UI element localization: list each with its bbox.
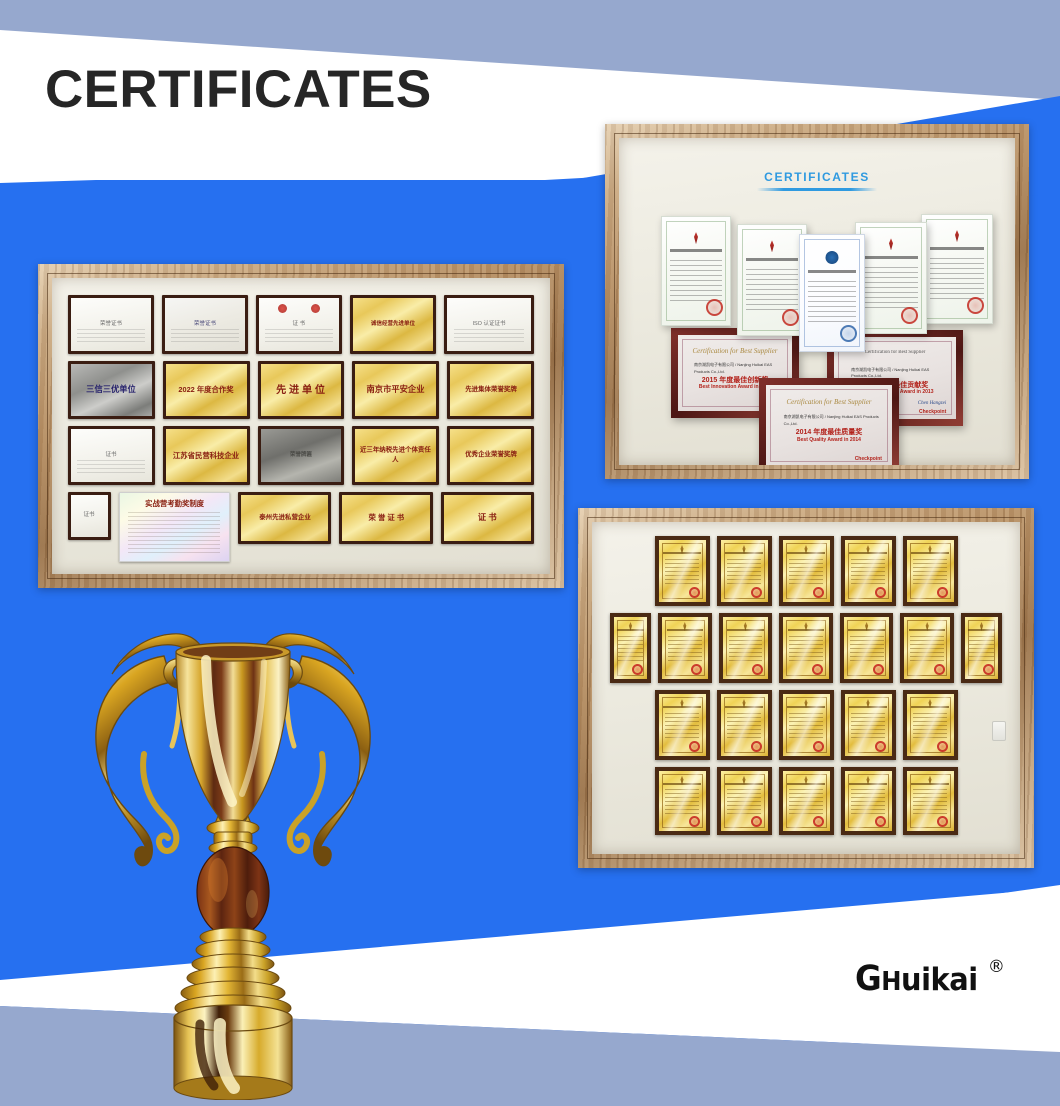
seal-icon <box>813 816 824 827</box>
seal-icon <box>689 741 700 752</box>
brand-logo-smallcap: H <box>881 967 901 997</box>
certificates-heading: CERTIFICATES <box>619 170 1015 191</box>
iso-certificate[interactable] <box>799 234 865 352</box>
plaque[interactable]: 荣誉牌匾 <box>258 426 345 485</box>
plaque[interactable]: 证书 <box>68 492 111 540</box>
cert-title-bar <box>849 706 887 708</box>
doc-heading-bar <box>864 256 917 259</box>
cert-title-bar <box>725 552 763 554</box>
seal-icon <box>813 741 824 752</box>
plaque-label: 三信三优单位 <box>87 384 137 396</box>
trophy-bowl <box>176 643 290 823</box>
cert-textlines <box>665 559 700 588</box>
seal-icon <box>752 664 763 675</box>
cert-title-bar <box>911 552 949 554</box>
plaque[interactable]: 证 书 <box>441 492 534 544</box>
gold-certificate-row <box>610 767 1002 835</box>
plaque[interactable]: 三信三优单位 <box>68 361 155 420</box>
plaque-label: 先 进 单 位 <box>277 382 326 397</box>
cert-title-bar <box>727 629 764 631</box>
plaque-label: ISO 认证证书 <box>472 320 505 328</box>
seal-icon <box>278 304 287 313</box>
plaque[interactable]: 南京市平安企业 <box>352 361 439 420</box>
award-script-title: Certification for Best Supplier <box>689 347 780 355</box>
cert-title-bar <box>787 783 825 785</box>
page-title: CERTIFICATES <box>45 62 432 118</box>
cert-textlines <box>851 559 886 588</box>
plaque-label: 实战营考勤奖制度 <box>124 499 224 510</box>
gold-patent-certificate[interactable] <box>779 536 834 606</box>
doc-textlines <box>808 281 857 325</box>
plaque[interactable]: 荣誉证书 <box>162 295 248 354</box>
cert-title-bar <box>909 629 946 631</box>
cert-title-bar <box>849 783 887 785</box>
frame-mat: 荣誉证书 荣誉证书 证 书 诚信经营先进单位 <box>52 278 550 574</box>
doc-heading-bar <box>930 247 983 250</box>
cert-textlines <box>618 636 642 665</box>
trophy-knop <box>197 847 269 937</box>
cert-title-bar <box>911 783 949 785</box>
plaque-label: 近三年纳税先进个体责任人 <box>359 446 433 465</box>
gold-patent-certificate[interactable] <box>655 690 710 760</box>
certificates-banner: CERTIFICATES 荣誉证书 荣誉证书 证 书 <box>0 0 1060 1106</box>
seal-icon <box>689 816 700 827</box>
photo-frame-awards-wall[interactable]: 荣誉证书 荣誉证书 证 书 诚信经营先进单位 <box>38 264 564 588</box>
plaque-grid: 荣誉证书 荣誉证书 证 书 诚信经营先进单位 <box>52 278 550 574</box>
award-title-en: Best Quality Award in 2014 <box>766 437 892 443</box>
cert-title-bar <box>725 783 763 785</box>
seal-icon <box>311 304 320 313</box>
seal-icon <box>937 587 948 598</box>
trophy-svg <box>68 604 398 1100</box>
plaque-label: 证书 <box>106 452 117 460</box>
cert-title-bar <box>663 783 701 785</box>
plaque-textlines <box>77 460 145 476</box>
gold-patent-certificate[interactable] <box>717 767 772 835</box>
cert-title-bar <box>667 629 704 631</box>
frame-mat <box>592 522 1020 854</box>
cert-title-bar <box>788 629 825 631</box>
cert-textlines <box>851 789 886 817</box>
award-company: 南京湖凯电子有限公司 / Nanjing Huikai EAS Products… <box>694 362 781 375</box>
gold-patent-certificate[interactable] <box>840 613 894 683</box>
gold-patent-certificate[interactable] <box>779 690 834 760</box>
plaque[interactable]: 2022 年度合作奖 <box>163 361 250 420</box>
plaque-label: 荣誉证书 <box>194 320 216 328</box>
plaque[interactable]: 先进集体荣誉奖牌 <box>447 361 534 420</box>
plaque[interactable]: 江苏省民营科技企业 <box>163 426 250 485</box>
gold-patent-certificate[interactable] <box>903 690 958 760</box>
cert-textlines <box>727 713 762 742</box>
gold-patent-certificate[interactable] <box>903 767 958 835</box>
plaque[interactable]: 荣誉证书 <box>68 295 154 354</box>
cert-textlines <box>668 636 702 665</box>
seal-icon <box>875 816 886 827</box>
seal-icon <box>983 664 994 675</box>
plaque-textlines <box>171 329 238 345</box>
cert-title-bar <box>787 706 825 708</box>
cert-textlines <box>727 559 762 588</box>
trophy-base <box>174 1005 292 1100</box>
award-script-title: Certification for Best Supplier <box>779 398 880 406</box>
gold-patent-certificate[interactable] <box>900 613 954 683</box>
plaque[interactable]: 泰州先进私营企业 <box>238 492 331 544</box>
accreditation-mark-icon <box>840 325 857 342</box>
award-issuer: Checkpoint <box>855 456 882 462</box>
plaque[interactable]: ISO 认证证书 <box>444 295 534 354</box>
heading-rule <box>757 188 877 191</box>
seal-icon <box>751 816 762 827</box>
gold-patent-certificate[interactable] <box>658 613 712 683</box>
gold-patent-certificate[interactable] <box>719 613 773 683</box>
seal-icon <box>751 741 762 752</box>
cert-textlines <box>910 636 944 665</box>
brand-logo: GHuikai ® <box>855 962 1005 997</box>
cert-textlines <box>969 636 993 665</box>
gold-patent-certificate[interactable] <box>779 767 834 835</box>
brand-logo-text: GHuikai <box>855 962 978 997</box>
gold-patent-certificate[interactable] <box>779 613 833 683</box>
cert-textlines <box>665 789 700 817</box>
award-signature: Chen Hangzei <box>918 401 946 406</box>
seal-icon <box>873 664 884 675</box>
seal-icon <box>689 587 700 598</box>
gold-patent-certificate[interactable] <box>717 536 772 606</box>
cert-textlines <box>665 713 700 742</box>
gold-patent-certificate[interactable] <box>655 536 710 606</box>
plaque-label: 优秀企业荣誉奖牌 <box>465 451 517 461</box>
doc-textlines <box>670 260 722 301</box>
brand-logo-lead: G <box>855 959 881 999</box>
plaque-textlines <box>77 329 144 345</box>
plaque[interactable]: 优秀企业荣誉奖牌 <box>447 426 534 485</box>
certificates-heading-text: CERTIFICATES <box>619 170 1015 184</box>
gold-patent-certificate[interactable] <box>841 767 896 835</box>
patent-certificate[interactable] <box>921 214 993 324</box>
photo-frame-patents-wall[interactable] <box>578 508 1034 868</box>
plaque[interactable]: 证 书 <box>256 295 342 354</box>
gold-patent-certificate[interactable] <box>610 613 651 683</box>
seal-icon <box>875 587 886 598</box>
gold-patent-certificate[interactable] <box>841 536 896 606</box>
cert-title-bar <box>617 629 643 631</box>
gold-patent-certificate[interactable] <box>841 690 896 760</box>
gold-patent-certificate[interactable] <box>717 690 772 760</box>
plaque-label: 证书 <box>84 512 95 520</box>
seal-icon <box>751 587 762 598</box>
cert-textlines <box>789 559 824 588</box>
cert-textlines <box>913 713 948 742</box>
seal-icon <box>937 816 948 827</box>
gold-certificate-grid <box>592 522 1020 854</box>
award-issuer: Checkpoint <box>919 409 946 415</box>
cert-textlines <box>729 636 763 665</box>
plaque[interactable]: 实战营考勤奖制度 <box>119 492 230 562</box>
cert-title-bar <box>911 706 949 708</box>
plaque-row: 荣誉证书 荣誉证书 证 书 诚信经营先进单位 <box>68 295 534 354</box>
seal-icon <box>875 741 886 752</box>
plaque[interactable]: 荣 誉 证 书 <box>339 492 432 544</box>
photo-frame-certificates-wall[interactable]: CERTIFICATES <box>605 124 1029 479</box>
light-switch-icon <box>992 721 1006 741</box>
supplier-award-certificate[interactable]: Certification for Best Supplier 南京湖凯电子有限… <box>759 378 899 465</box>
cert-textlines <box>789 636 823 665</box>
cert-title-bar <box>848 629 885 631</box>
trophy-image <box>68 604 398 1100</box>
plaque-row: 三信三优单位 2022 年度合作奖 先 进 单 位 南京市平安企业 先进集体荣誉… <box>68 361 534 420</box>
plaque-label: 南京市平安企业 <box>367 384 425 396</box>
plaque-label: 诚信经营先进单位 <box>371 320 415 328</box>
cert-textlines <box>850 636 884 665</box>
gold-patent-certificate[interactable] <box>961 613 1002 683</box>
doc-textlines <box>746 269 798 311</box>
plaque-label: 泰州先进私营企业 <box>259 513 311 523</box>
plaque-textlines <box>265 329 332 345</box>
cert-title-bar <box>663 552 701 554</box>
cert-title-bar <box>787 552 825 554</box>
cert-title-bar <box>663 706 701 708</box>
award-company: 南京湖凯电子有限公司 / Nanjing Huikai EAS Products… <box>784 414 880 427</box>
doc-textlines <box>864 267 917 309</box>
seal-icon <box>934 664 945 675</box>
plaque[interactable]: 先 进 单 位 <box>258 361 345 420</box>
doc-heading-bar <box>808 270 857 273</box>
doc-heading-bar <box>746 258 798 261</box>
seal-icon <box>706 299 723 316</box>
cert-title-bar <box>725 706 763 708</box>
plaque-label: 先进集体荣誉奖牌 <box>465 385 517 395</box>
frame-mat: CERTIFICATES <box>619 138 1015 465</box>
seal-icon <box>691 664 702 675</box>
plaque[interactable]: 近三年纳税先进个体责任人 <box>352 426 439 485</box>
plaque[interactable]: 诚信经营先进单位 <box>350 295 436 354</box>
plaque-label: 荣誉证书 <box>100 320 122 328</box>
plaque-textlines <box>454 329 525 345</box>
gold-patent-certificate[interactable] <box>655 767 710 835</box>
cert-textlines <box>913 789 948 817</box>
plaque[interactable]: 证书 <box>68 426 155 485</box>
seal-icon <box>632 664 643 675</box>
registered-trademark-icon: ® <box>988 959 1005 976</box>
cert-textlines <box>727 789 762 817</box>
plaque-row: 证书 江苏省民营科技企业 荣誉牌匾 近三年纳税先进个体责任人 优秀企业荣誉奖牌 <box>68 426 534 485</box>
patent-certificate[interactable] <box>661 216 731 326</box>
gold-certificate-row <box>610 690 1002 760</box>
plaque-label: 荣 誉 证 书 <box>368 512 404 523</box>
cert-title-bar <box>849 552 887 554</box>
cert-textlines <box>851 713 886 742</box>
doc-heading-bar <box>670 249 722 252</box>
patent-certificate[interactable] <box>737 224 807 336</box>
award-title-cn: 2014 年度最佳质量奖 <box>766 427 892 437</box>
plaque-label: 江苏省民营科技企业 <box>173 450 239 461</box>
gold-certificate-row <box>610 536 1002 606</box>
brand-logo-rest: uikai <box>901 962 978 998</box>
cert-title-bar <box>968 629 994 631</box>
cert-textlines <box>913 559 948 588</box>
patent-certificate[interactable] <box>855 222 927 334</box>
plaque-label: 证 书 <box>293 320 306 328</box>
plaque-label: 2022 年度合作奖 <box>179 384 234 395</box>
iso-logo-icon <box>826 251 839 264</box>
doc-textlines <box>930 258 983 299</box>
cert-textlines <box>789 713 824 742</box>
cert-textlines <box>789 789 824 817</box>
gold-certificate-row <box>610 613 1002 683</box>
gold-patent-certificate[interactable] <box>903 536 958 606</box>
seal-icon <box>782 309 799 326</box>
seal-icon <box>813 587 824 598</box>
plaque-textlines <box>128 512 220 554</box>
plaque-row: 证书 实战营考勤奖制度 泰州先进私营企业 荣 誉 证 书 证 书 <box>68 492 534 562</box>
plaque-label: 荣誉牌匾 <box>290 452 312 460</box>
plaque-label: 证 书 <box>478 512 497 524</box>
seal-icon <box>812 664 823 675</box>
seal-icon <box>937 741 948 752</box>
